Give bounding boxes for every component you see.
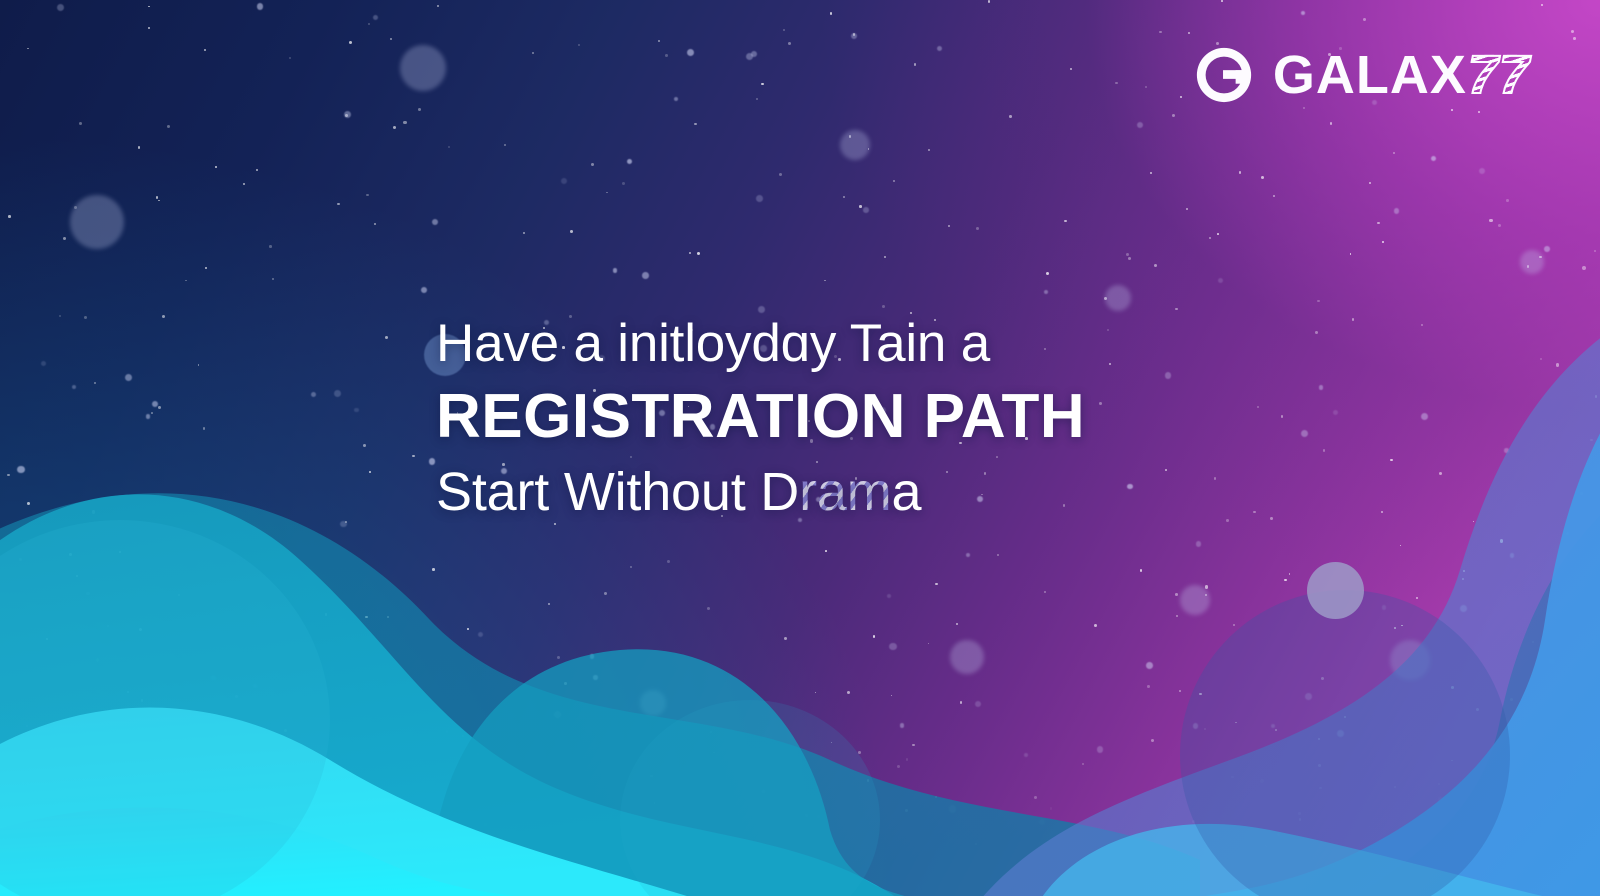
circle-g-icon [1193, 44, 1255, 106]
headline-line-3-prefix: Start Without D [436, 462, 799, 522]
headline-line-3-suffix: a [892, 462, 922, 522]
brand-wordmark-text: GALAX [1273, 48, 1467, 102]
brand-wordmark-number: 77 [1468, 48, 1530, 102]
banner-canvas: GALAX77 Have a initloydɑy Tain a REGISTR… [0, 0, 1600, 896]
headline-line-2: REGISTRATION PATH [436, 384, 1196, 451]
headline-line-3-striped: ram [799, 462, 891, 522]
moon-circle [1307, 562, 1364, 619]
headline-block: Have a initloydɑy Tain a REGISTRATION PA… [436, 315, 1196, 522]
brand-logo[interactable]: GALAX77 [1193, 44, 1530, 106]
headline-line-1: Have a initloydɑy Tain a [436, 315, 1196, 372]
brand-wordmark: GALAX77 [1273, 48, 1530, 102]
headline-line-3: Start Without Drama [436, 463, 1196, 521]
